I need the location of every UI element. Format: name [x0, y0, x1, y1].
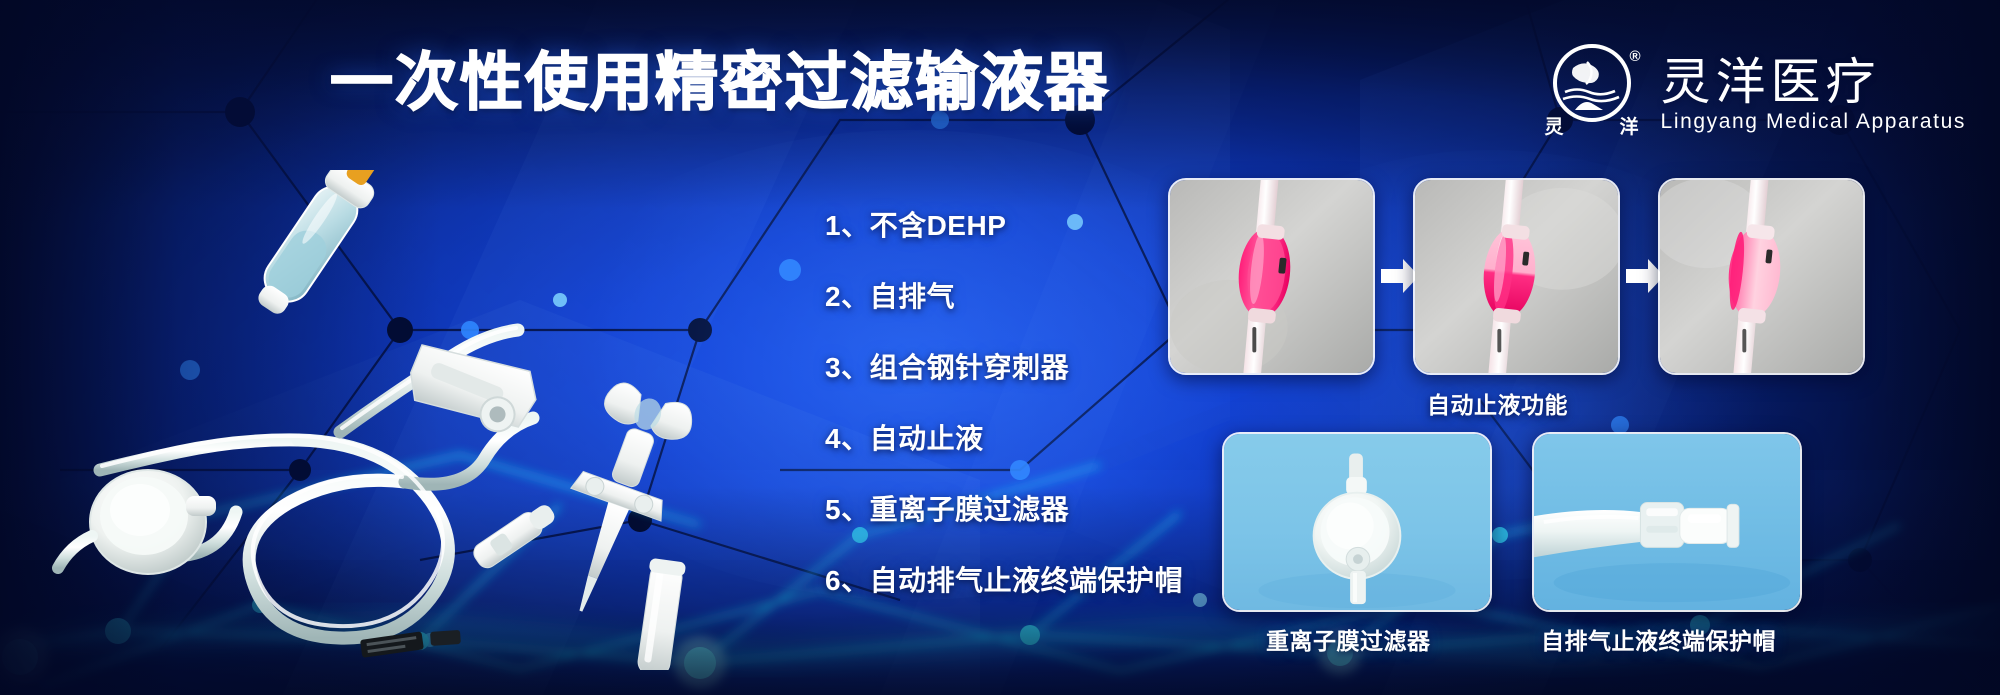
feature-item-3: 3、组合钢针穿刺器 — [825, 354, 1183, 382]
detail-photo-filter — [1222, 432, 1492, 612]
feature-item-6: 6、自动排气止液终端保护帽 — [825, 567, 1183, 595]
detail-caption-filter: 重离子膜过滤器 — [1266, 630, 1431, 653]
detail-caption-protective-cap: 自排气止液终端保护帽 — [1541, 630, 1776, 653]
logo-circle-icon — [1553, 44, 1631, 122]
detail-photo-protective-cap — [1532, 432, 1802, 612]
feature-item-4: 4、自动止液 — [825, 425, 1183, 453]
company-name-en: Lingyang Medical Apparatus — [1661, 111, 1966, 132]
company-name-cn: 灵洋医疗 — [1661, 56, 1966, 109]
sequence-photo-1 — [1168, 178, 1375, 375]
logo-sub-left: 灵 — [1545, 118, 1564, 137]
logo-mark-icon: ® 灵 洋 — [1545, 44, 1639, 144]
feature-list: 1、不含DEHP 2、自排气 3、组合钢针穿刺器 4、自动止液 5、重离子膜过滤… — [825, 212, 1183, 595]
product-photo — [40, 170, 810, 670]
feature-item-2: 2、自排气 — [825, 283, 1183, 311]
logo-sub-right: 洋 — [1620, 118, 1639, 137]
sequence-photo-3 — [1658, 178, 1865, 375]
feature-item-1: 1、不含DEHP — [825, 212, 1183, 240]
banner-canvas: 一次性使用精密过滤输液器 ® 灵 洋 — [0, 0, 2000, 695]
feature-item-5: 5、重离子膜过滤器 — [825, 496, 1183, 524]
sequence-caption: 自动止液功能 — [1427, 394, 1568, 417]
registered-mark: ® — [1629, 48, 1640, 65]
page-title: 一次性使用精密过滤输液器 — [330, 52, 1110, 115]
sequence-photo-2 — [1413, 178, 1620, 375]
brand-logo: ® 灵 洋 灵洋医疗 Lingyang Medical Apparatus — [1545, 44, 1966, 144]
